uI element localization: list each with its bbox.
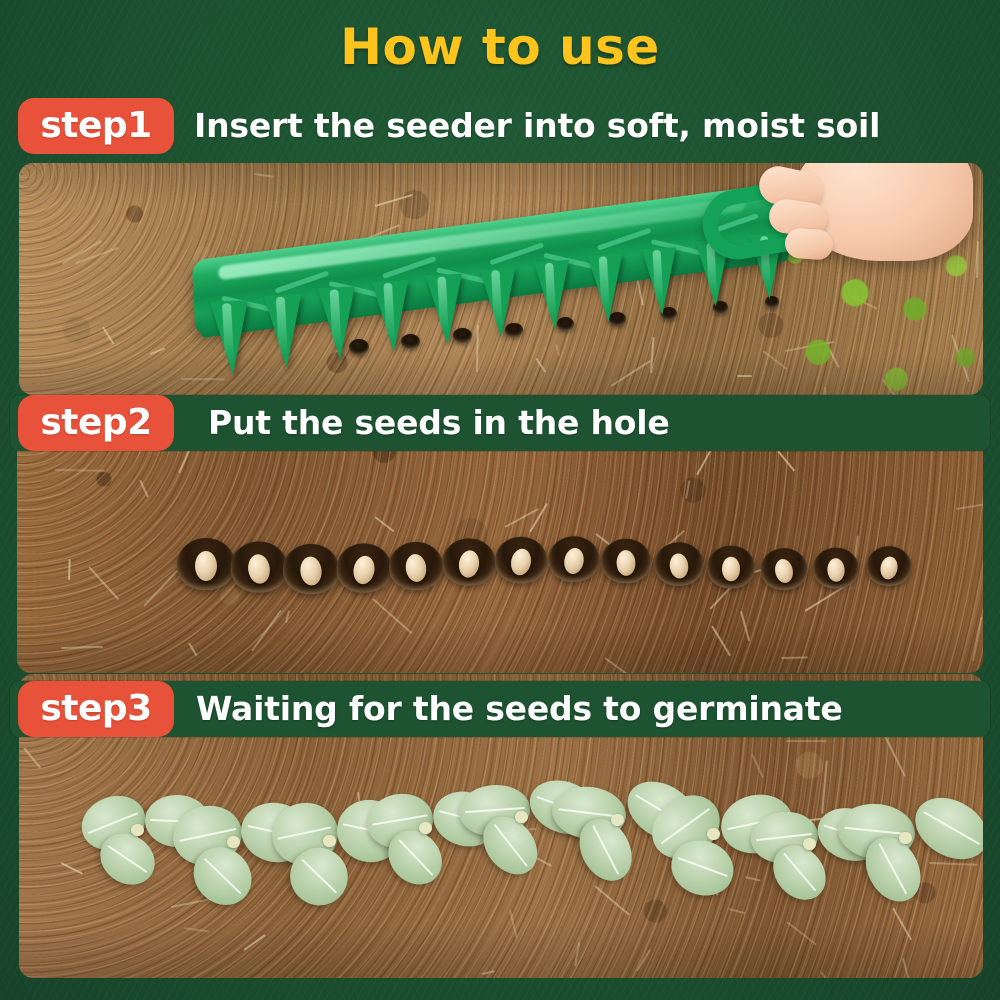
step1-photo: [19, 163, 983, 395]
seedling-stem: [131, 824, 144, 836]
straw-piece: [574, 942, 580, 966]
straw-piece: [786, 740, 827, 742]
straw-piece: [821, 761, 828, 815]
step1-text: Insert the seeder into soft, moist soil: [194, 98, 880, 154]
straw-piece: [737, 375, 752, 377]
straw-piece: [972, 616, 983, 660]
step1-badge: step1: [18, 98, 174, 154]
seed: [616, 550, 636, 576]
straw-piece: [285, 610, 290, 623]
straw-piece: [140, 479, 150, 497]
straw-piece: [902, 958, 913, 978]
step2-badge: step2: [18, 395, 174, 451]
seedling-stem: [515, 811, 528, 823]
straw-piece: [892, 907, 912, 940]
straw-piece: [102, 326, 114, 344]
straw-piece: [55, 469, 105, 472]
seeder-tooth: [318, 287, 359, 361]
straw-piece: [23, 747, 41, 769]
straw-piece: [374, 516, 394, 532]
straw-piece: [529, 503, 548, 532]
straw-piece: [781, 657, 808, 660]
seeder-tooth: [372, 280, 412, 353]
step3-text: Waiting for the seeds to germinate: [196, 681, 843, 737]
straw-piece: [787, 922, 818, 946]
straw-piece: [509, 909, 518, 938]
step2-text: Put the seeds in the hole: [208, 395, 670, 451]
step3-badge: step3: [18, 681, 174, 737]
seedling-stem: [803, 838, 816, 850]
hand-icon: [733, 163, 973, 279]
straw-piece: [482, 970, 495, 975]
seeder-tooth: [588, 254, 626, 324]
seeder-tooth: [642, 247, 680, 316]
straw-piece: [61, 646, 103, 649]
seeder-tooth: [264, 293, 305, 368]
seeder-tooth: [480, 267, 519, 338]
straw-piece: [144, 570, 179, 607]
straw-piece: [778, 451, 796, 472]
seedling-stem: [419, 822, 432, 834]
seeder-tooth: [210, 300, 252, 376]
straw-piece: [745, 876, 761, 882]
straw-piece: [188, 642, 197, 656]
straw-piece: [254, 173, 274, 178]
seedling-stem: [899, 832, 912, 844]
straw-piece: [68, 560, 71, 581]
straw-piece: [929, 862, 977, 866]
straw-piece: [251, 609, 282, 651]
step-row-1: step1 Insert the seeder into soft, moist…: [18, 98, 880, 154]
straw-piece: [75, 247, 118, 264]
straw-piece: [184, 927, 210, 933]
finger-3: [784, 227, 834, 260]
straw-piece: [711, 625, 731, 656]
page-title: How to use: [0, 16, 1000, 78]
straw-piece: [150, 347, 166, 354]
straw-piece: [372, 598, 412, 634]
step-row-2: step2 Put the seeds in the hole: [10, 395, 990, 451]
how-to-use-infographic: How to use step1 Insert the seeder into …: [0, 0, 1000, 1000]
straw-piece: [820, 972, 851, 978]
straw-piece: [60, 862, 82, 874]
straw-piece: [244, 935, 266, 951]
step-row-3: step3 Waiting for the seeds to germinate: [10, 681, 990, 737]
straw-piece: [804, 586, 844, 612]
seedling-stem: [611, 814, 624, 826]
seeder-tooth: [426, 274, 466, 346]
straw-piece: [605, 657, 630, 673]
seeder-tooth: [534, 260, 573, 330]
straw-piece: [752, 754, 765, 779]
straw-piece: [740, 611, 750, 641]
seed: [195, 551, 217, 581]
straw-piece: [88, 567, 119, 601]
straw-piece: [685, 480, 690, 499]
straw-piece: [729, 908, 746, 914]
straw-piece: [956, 500, 983, 510]
straw-piece: [594, 886, 630, 916]
straw-piece: [636, 949, 651, 971]
